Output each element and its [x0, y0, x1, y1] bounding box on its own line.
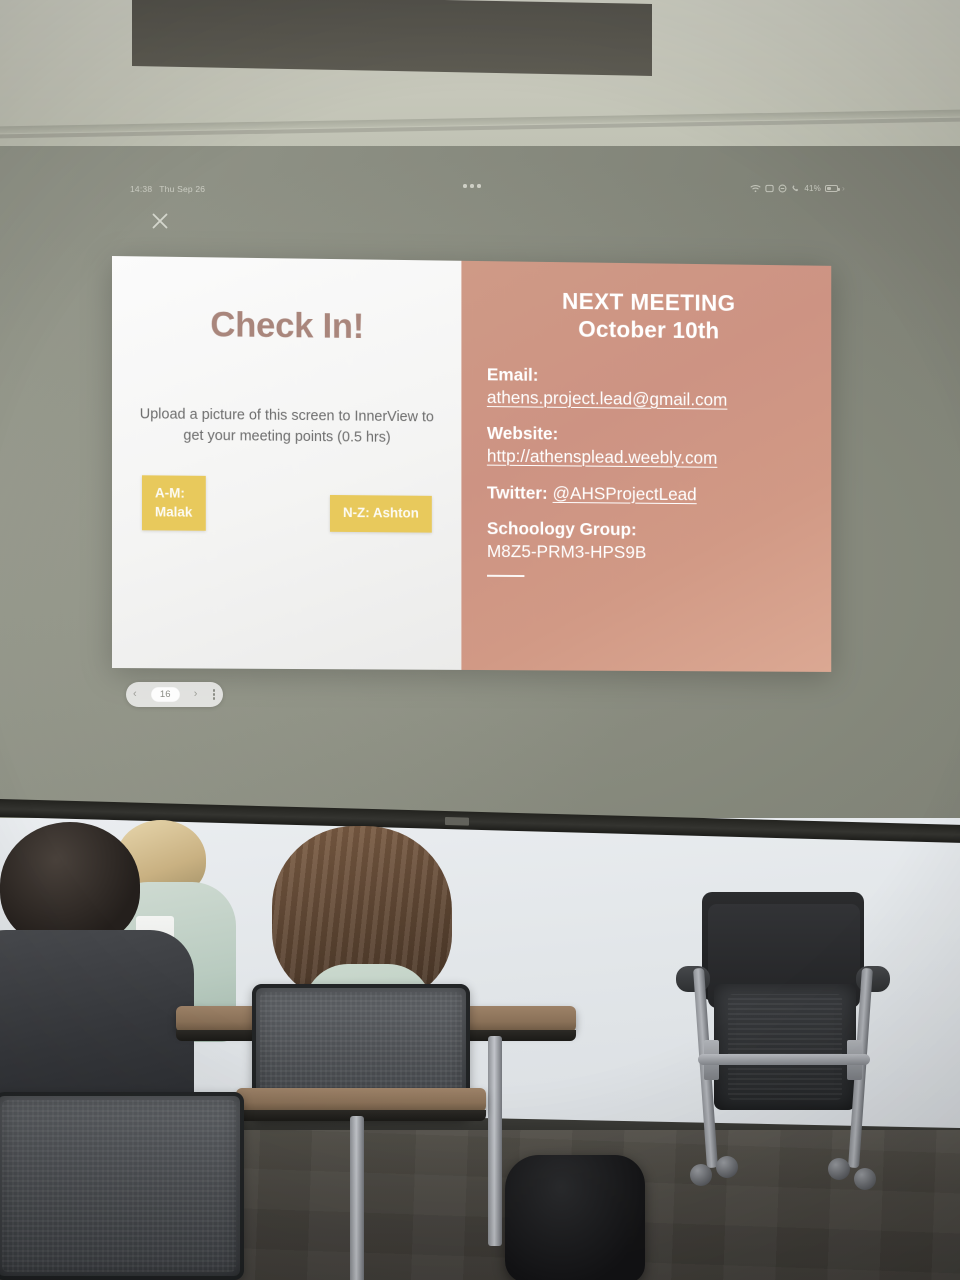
next-slide-button[interactable]: › — [194, 689, 198, 700]
badge-a-m-name: Malak — [155, 503, 192, 522]
status-bar-right: 41% › — [750, 183, 845, 193]
more-options-icon — [470, 184, 474, 188]
website-label: Website: — [487, 422, 810, 448]
badge-a-m-range: A-M: — [155, 485, 192, 504]
email-block: Email: athens.project.lead@gmail.com — [487, 364, 810, 413]
slide-right-panel: NEXT MEETING October 10th Email: athens.… — [461, 261, 831, 672]
classroom-photo-scene: 14:38 Thu Sep 26 41% › — [0, 0, 960, 1280]
projected-status-bar: 14:38 Thu Sep 26 41% › — [0, 182, 960, 206]
slide-content: Check In! Upload a picture of this scree… — [112, 256, 831, 672]
more-options-icon — [463, 184, 467, 188]
badge-n-z-label: N-Z: Ashton — [343, 504, 419, 523]
battery-percent-label: 41% — [804, 184, 821, 193]
next-meeting-date: October 10th — [487, 314, 810, 346]
underline-rule — [487, 575, 524, 577]
do-not-disturb-icon — [778, 184, 787, 193]
next-meeting-title: NEXT MEETING — [487, 287, 810, 318]
rail-clip — [445, 817, 469, 826]
current-slide-number[interactable]: 16 — [151, 687, 180, 702]
task-chair-front-left — [0, 1092, 244, 1280]
website-block: Website: http://athensplead.weebly.com — [487, 422, 810, 471]
pager-more-options-icon[interactable] — [212, 689, 216, 699]
slide-left-panel: Check In! Upload a picture of this scree… — [112, 256, 461, 670]
status-time: 14:38 — [130, 184, 152, 194]
checkin-badge-a-m: A-M: Malak — [142, 475, 205, 531]
slide-instructions: Upload a picture of this screen to Inner… — [138, 404, 436, 448]
screen-record-icon — [765, 184, 774, 193]
prev-slide-button[interactable]: ‹ — [133, 689, 137, 700]
student-desk-front — [236, 1088, 486, 1112]
next-meeting-heading: NEXT MEETING October 10th — [487, 287, 810, 346]
presentation-slide[interactable]: Check In! Upload a picture of this scree… — [112, 256, 831, 672]
twitter-value[interactable]: @AHSProjectLead — [553, 483, 697, 504]
phone-icon — [791, 184, 800, 193]
website-value[interactable]: http://athensplead.weebly.com — [487, 445, 810, 471]
chevron-right-icon: › — [842, 183, 845, 193]
close-button[interactable] — [147, 208, 173, 234]
schoology-code: M8Z5-PRM3-HPS9B — [487, 540, 810, 566]
backpack — [505, 1155, 645, 1280]
checkin-badge-group: A-M: Malak N-Z: Ashton — [134, 475, 440, 533]
slide-title: Check In! — [210, 305, 364, 347]
email-value[interactable]: athens.project.lead@gmail.com — [487, 386, 810, 413]
ceiling — [0, 0, 960, 152]
schoology-block: Schoology Group: M8Z5-PRM3-HPS9B — [487, 517, 810, 579]
twitter-block: Twitter: @AHSProjectLead — [487, 481, 810, 507]
twitter-label: Twitter: — [487, 482, 548, 502]
top-overflow-menu[interactable] — [463, 184, 481, 188]
status-bar-left: 14:38 Thu Sep 26 — [130, 184, 205, 194]
slide-pager[interactable]: ‹ 16 › — [126, 682, 223, 707]
stacked-chairs — [672, 888, 894, 1206]
schoology-label: Schoology Group: — [487, 517, 810, 542]
student-front-left — [0, 822, 166, 1122]
battery-icon — [825, 185, 838, 192]
ceiling-dark-panel — [132, 0, 652, 76]
wifi-icon — [750, 184, 761, 193]
more-options-icon — [477, 184, 481, 188]
checkin-badge-n-z: N-Z: Ashton — [330, 495, 432, 532]
status-date: Thu Sep 26 — [159, 184, 205, 194]
